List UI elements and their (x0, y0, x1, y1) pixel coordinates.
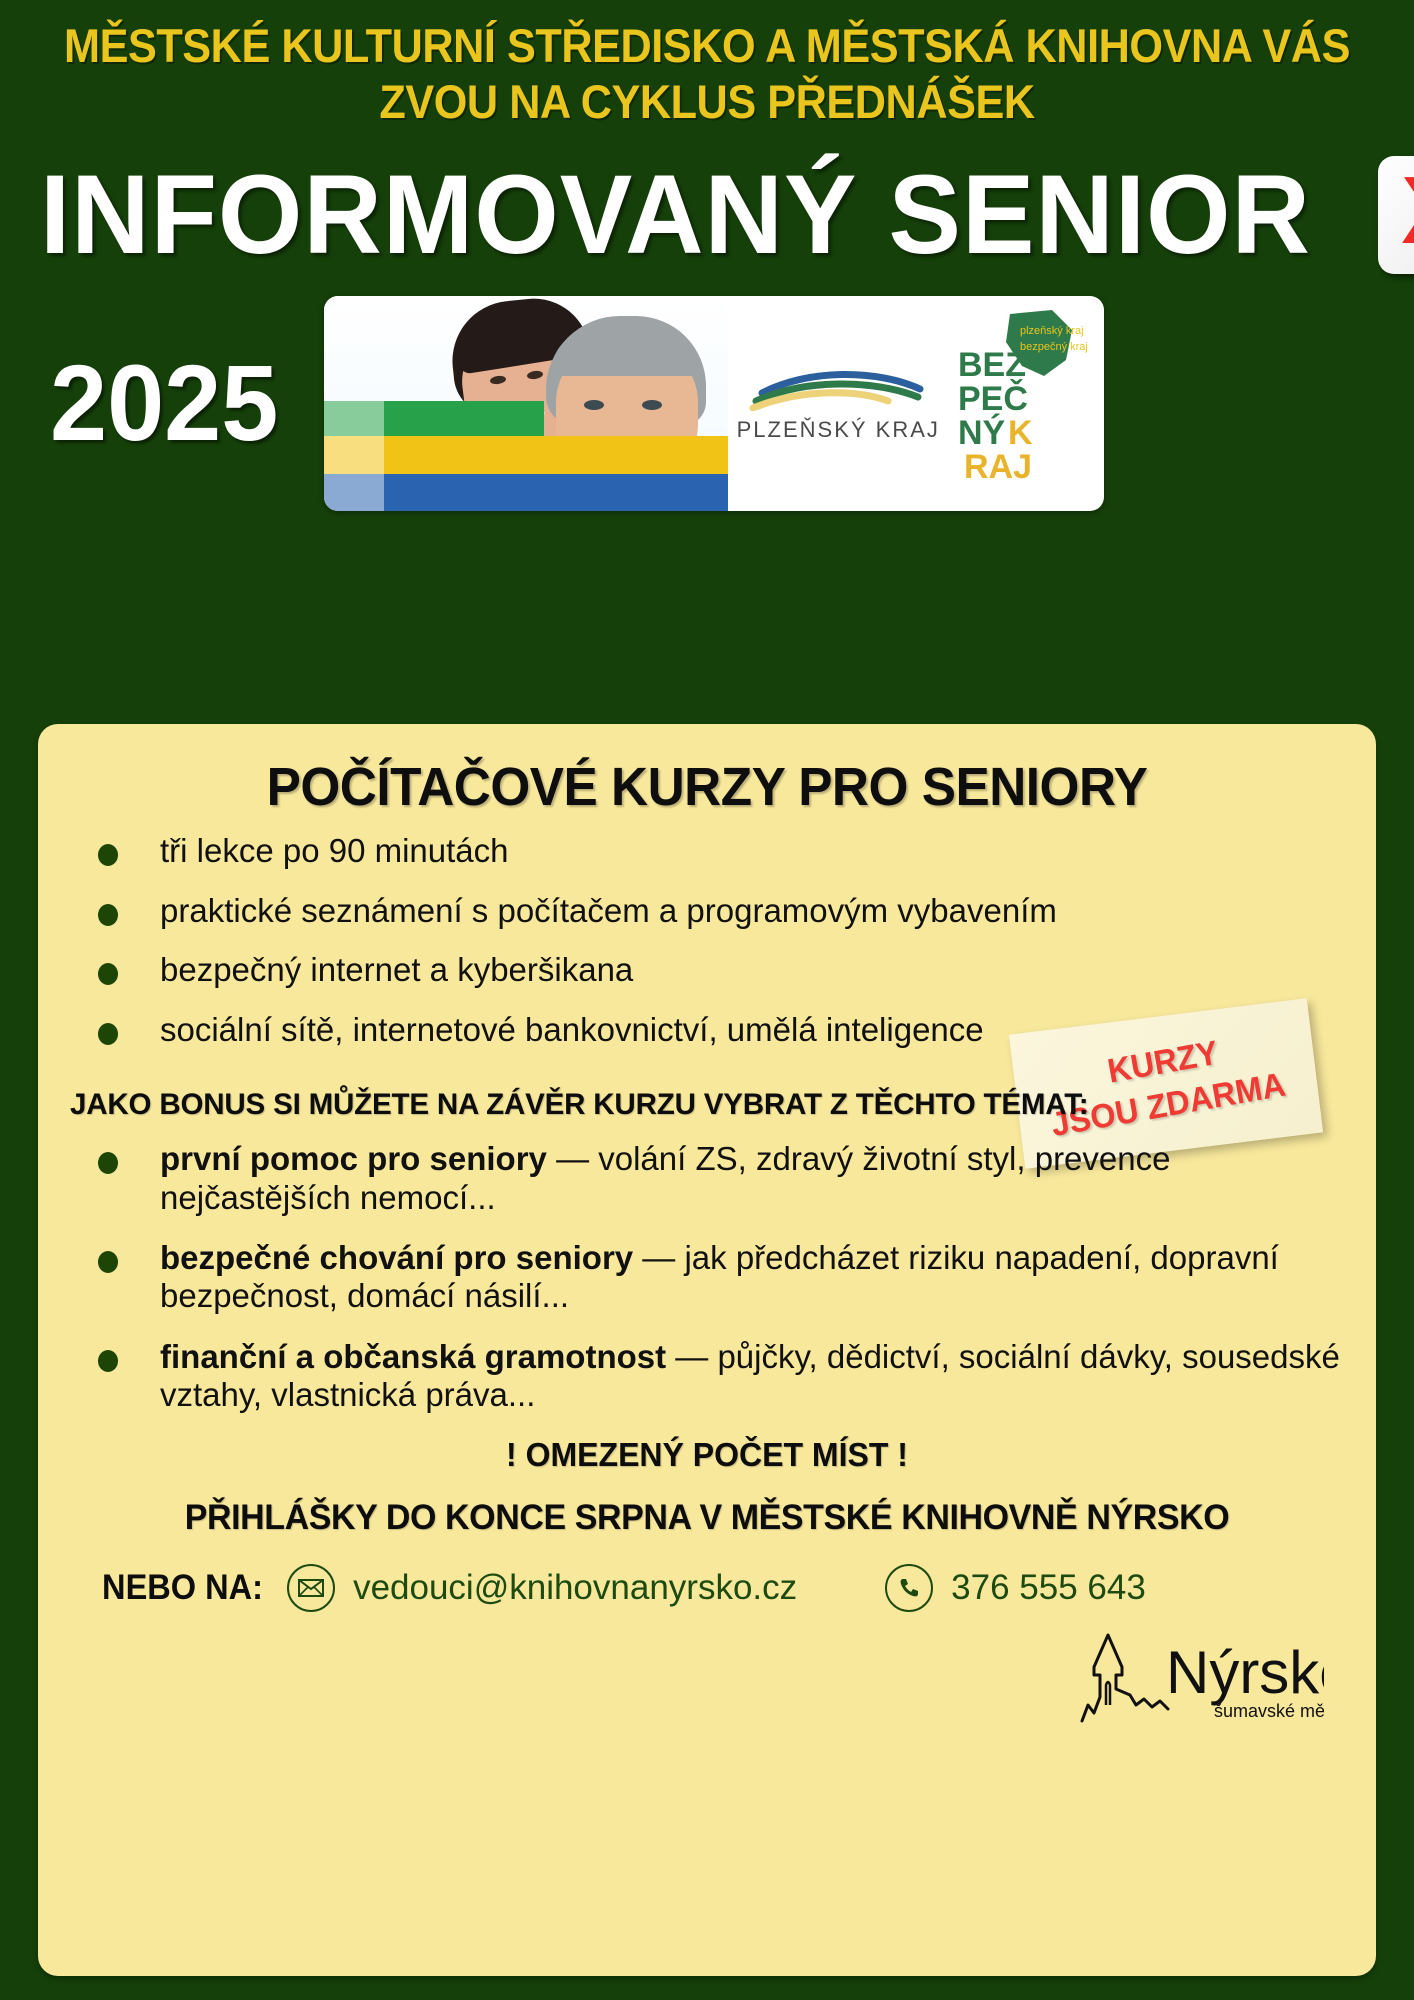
invitation-line-2: ZVOU NA CYKLUS PŘEDNÁŠEK (57, 78, 1358, 126)
list-item: první pomoc pro seniory — volání ZS, zdr… (68, 1140, 1346, 1217)
list-item-label: bezpečný internet a kyberšikana (160, 951, 633, 988)
svg-text:NÝ: NÝ (958, 414, 1006, 452)
nyrsko-city-logo: Nýrsko šumavské město (1074, 1609, 1324, 1724)
plzensky-kraj-logo: PLZEŇSKÝ KRAJ (728, 296, 948, 511)
bonus-topic-list: první pomoc pro seniory — volání ZS, zdr… (68, 1140, 1346, 1414)
svg-text:RAJ: RAJ (964, 448, 1032, 486)
bonus-topic-title: bezpečné chování pro seniory (160, 1239, 633, 1276)
content-card: POČÍTAČOVÉ KURZY PRO SENIORY tři lekce p… (38, 724, 1376, 1976)
nyrsko-tagline: šumavské město (1214, 1701, 1324, 1721)
list-item: bezpečný internet a kyberšikana (68, 951, 1346, 989)
banner: PLZEŇSKÝ KRAJ plzeňský kraj bezpečný kra… (324, 296, 1104, 511)
year-label: 2025 (50, 349, 278, 457)
bonus-heading: JAKO BONUS SI MŮŽETE NA ZÁVĚR KURZU VYBR… (70, 1088, 1327, 1122)
svg-text:PEČ: PEČ (958, 379, 1028, 418)
contact-label: NEBO NA: (102, 1568, 263, 1608)
plzensky-kraj-label: PLZEŇSKÝ KRAJ (737, 417, 940, 443)
list-item-label: tři lekce po 90 minutách (160, 832, 509, 869)
list-item: praktické seznámení s počítačem a progra… (68, 892, 1346, 930)
email-icon (287, 1564, 335, 1612)
nyrsko-name: Nýrsko (1166, 1639, 1324, 1706)
svg-text:BEZ: BEZ (958, 346, 1026, 384)
bezpecny-kraj-mark-icon: plzeňský kraj bezpečný kraj BEZ PEČ NÝ K… (948, 308, 1098, 498)
list-item-label: praktické seznámení s počítačem a progra… (160, 892, 1057, 929)
bonus-topic-title: první pomoc pro seniory (160, 1140, 547, 1177)
svg-text:bezpečný kraj: bezpečný kraj (1020, 341, 1088, 353)
edition-badge-label: X (1401, 163, 1414, 259)
title-row: INFORMOVANÝ SENIOR X (0, 156, 1414, 274)
bonus-topic-title: finanční a občanská gramotnost (160, 1338, 666, 1375)
phone-number[interactable]: 376 555 643 (951, 1568, 1146, 1608)
envelope-icon (298, 1579, 324, 1597)
bezpecny-kraj-logo: plzeňský kraj bezpečný kraj BEZ PEČ NÝ K… (948, 296, 1098, 511)
email-address[interactable]: vedouci@knihovnanyrsko.cz (353, 1568, 797, 1608)
poster-root: MĚSTSKÉ KULTURNÍ STŘEDISKO A MĚSTSKÁ KNI… (0, 0, 1414, 2000)
svg-text:K: K (1008, 414, 1033, 452)
invitation-header: MĚSTSKÉ KULTURNÍ STŘEDISKO A MĚSTSKÁ KNI… (0, 0, 1414, 126)
contact-row: NEBO NA: vedouci@knihovnanyrsko.cz 376 5… (68, 1564, 1346, 1612)
list-item: tři lekce po 90 minutách (68, 832, 1346, 870)
limited-seats-notice: ! OMEZENÝ POČET MÍST ! (87, 1436, 1327, 1474)
handset-icon (897, 1576, 921, 1600)
plzensky-kraj-arcs-icon (748, 363, 928, 411)
year-banner-row: 2025 (0, 296, 1414, 511)
svg-text:plzeňský kraj: plzeňský kraj (1020, 325, 1084, 337)
deadline-notice: PŘIHLÁŠKY DO KONCE SRPNA V MĚSTSKÉ KNIHO… (87, 1498, 1327, 1538)
phone-icon (885, 1564, 933, 1612)
senior-couple-photo (324, 296, 728, 511)
page-title: INFORMOVANÝ SENIOR (40, 159, 1311, 271)
card-heading: POČÍTAČOVÉ KURZY PRO SENIORY (100, 756, 1314, 818)
invitation-line-1: MĚSTSKÉ KULTURNÍ STŘEDISKO A MĚSTSKÁ KNI… (57, 22, 1358, 70)
list-item-label: sociální sítě, internetové bankovnictví,… (160, 1011, 984, 1048)
edition-badge: X (1378, 156, 1414, 274)
list-item: bezpečné chování pro seniory — jak předc… (68, 1239, 1346, 1316)
list-item: finanční a občanská gramotnost — půjčky,… (68, 1338, 1346, 1415)
